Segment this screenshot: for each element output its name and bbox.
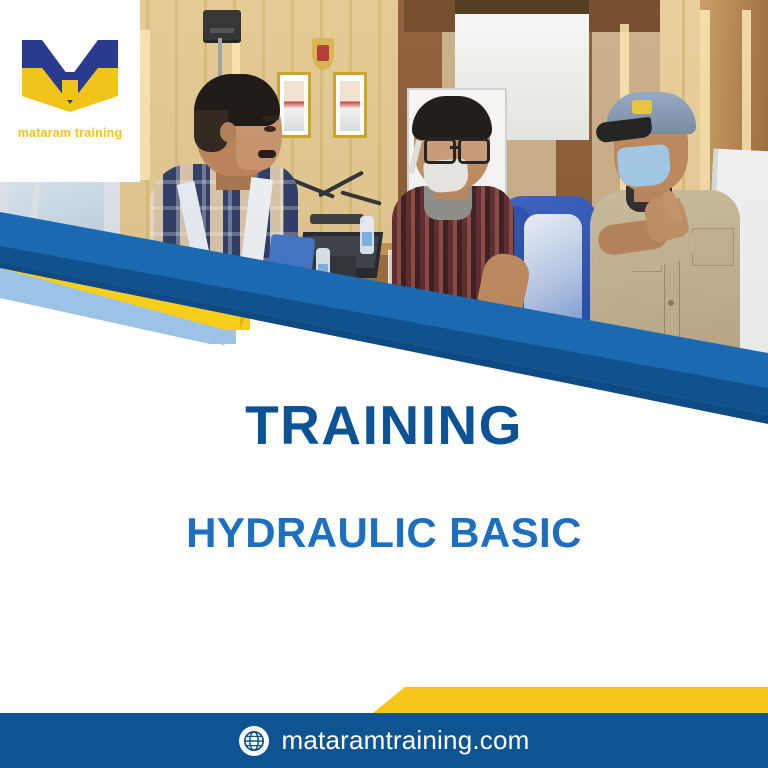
website-url[interactable]: mataramtraining.com [282,725,530,756]
footer-yellow-strip [373,687,768,713]
globe-icon [239,726,269,756]
footer-accent [0,0,768,768]
globe-glyph [243,730,265,752]
footer-bar: mataramtraining.com [0,713,768,768]
poster: mataram training TRAINING HYDRAULIC BASI… [0,0,768,768]
